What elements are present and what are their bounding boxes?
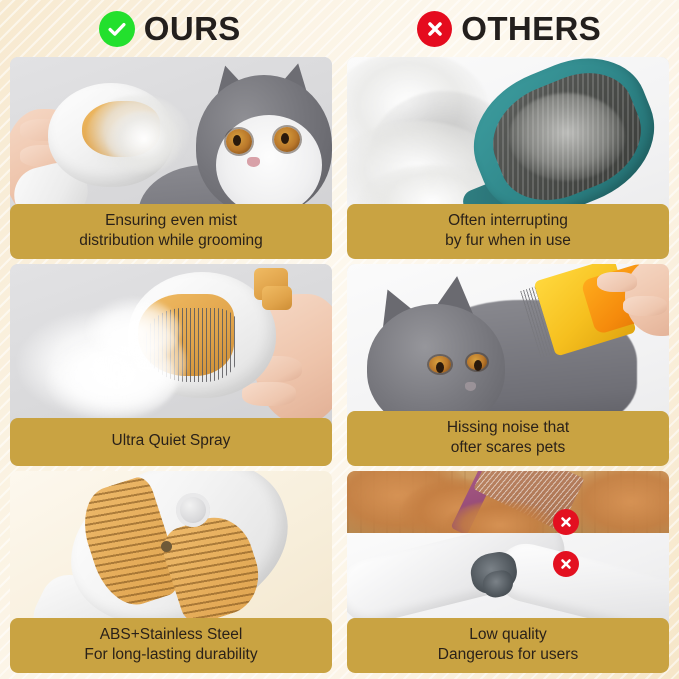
x-mark-bottom-icon [553, 551, 579, 577]
panel-others-interrupting-fur: Often interrupting by fur when in use [347, 57, 669, 259]
caption-ours-ultra-quiet-spray: Ultra Quiet Spray [10, 418, 332, 466]
caption-others-hissing-noise: Hissing noise that ofter scares pets [347, 411, 669, 466]
check-circle-icon [99, 11, 135, 47]
header-others-label: OTHERS [461, 12, 601, 45]
caption-line: Dangerous for users [355, 645, 661, 665]
caption-ours-even-mist: Ensuring even mist distribution while gr… [10, 204, 332, 259]
caption-others-low-quality: Low quality Dangerous for users [347, 618, 669, 673]
header-ours-label: OURS [144, 12, 241, 45]
comparison-header: OURS OTHERS [0, 0, 679, 57]
panel-ours-ultra-quiet-spray: Ultra Quiet Spray [10, 264, 332, 466]
header-ours: OURS [0, 0, 340, 57]
caption-ours-abs-stainless: ABS+Stainless Steel For long-lasting dur… [10, 618, 332, 673]
caption-line: Ultra Quiet Spray [18, 431, 324, 451]
photo-others-fur-on-wood [347, 471, 669, 533]
caption-line: For long-lasting durability [18, 645, 324, 665]
photo-others-broken-brush [347, 533, 669, 625]
caption-line: ABS+Stainless Steel [18, 625, 324, 645]
caption-line: Hissing noise that [355, 418, 661, 438]
x-circle-icon [417, 11, 452, 47]
panel-others-low-quality: Low quality Dangerous for users [347, 471, 669, 673]
caption-line: ofter scares pets [355, 438, 661, 458]
comparison-grid: Ensuring even mist distribution while gr… [10, 57, 669, 672]
caption-line: Ensuring even mist [18, 211, 324, 231]
panel-ours-even-mist: Ensuring even mist distribution while gr… [10, 57, 332, 259]
caption-line: by fur when in use [355, 231, 661, 251]
caption-others-interrupting-fur: Often interrupting by fur when in use [347, 204, 669, 259]
header-others: OTHERS [340, 0, 679, 57]
caption-line: Low quality [355, 625, 661, 645]
caption-line: distribution while grooming [18, 231, 324, 251]
caption-line: Often interrupting [355, 211, 661, 231]
panel-ours-abs-stainless: ABS+Stainless Steel For long-lasting dur… [10, 471, 332, 673]
panel-others-hissing-noise: Hissing noise that ofter scares pets [347, 264, 669, 466]
x-mark-top-icon [553, 509, 579, 535]
